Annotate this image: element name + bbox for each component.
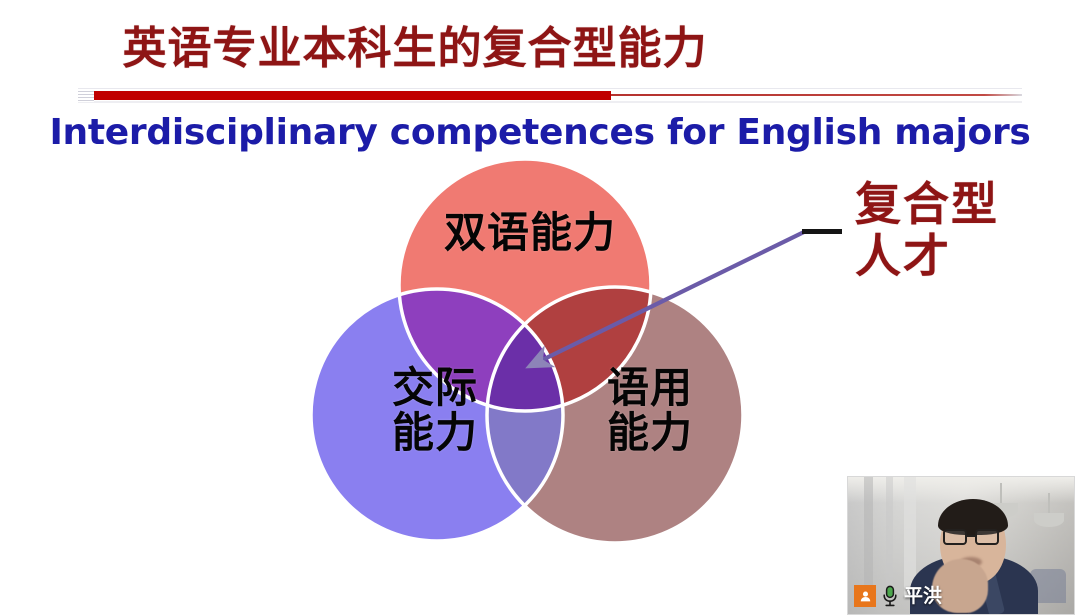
title-divider [78,88,1022,104]
slide-canvas: 英语专业本科生的复合型能力 Interdisciplinary competen… [0,0,1080,615]
video-name-badge: 平洪 [854,584,942,608]
video-ceiling [848,477,1074,503]
video-wall-post [864,477,873,589]
callout-dash-icon [802,229,842,234]
callout-label-composite-talent: 复合型 人才 [855,178,1055,282]
divider-hairline-top [78,88,1022,89]
video-wall-post [886,477,893,595]
page-title-chinese: 英语专业本科生的复合型能力 [0,20,1080,78]
divider-left-cap [78,89,94,102]
video-participant-tile[interactable]: 平洪 [847,476,1075,615]
video-ceiling-lamp [1034,513,1064,527]
venn-diagram: 双语能力 交际 能力 语用 能力 [295,150,765,560]
video-participant-name: 平洪 [904,585,942,607]
divider-thick-bar [94,91,611,100]
divider-hairline-bottom [78,101,1022,103]
host-person-icon [854,585,876,607]
video-lamp-stem [1048,493,1050,514]
video-person-glasses [943,529,1003,545]
microphone-icon[interactable] [881,585,899,607]
venn-svg [295,150,765,560]
video-lamp-stem [1000,483,1002,504]
